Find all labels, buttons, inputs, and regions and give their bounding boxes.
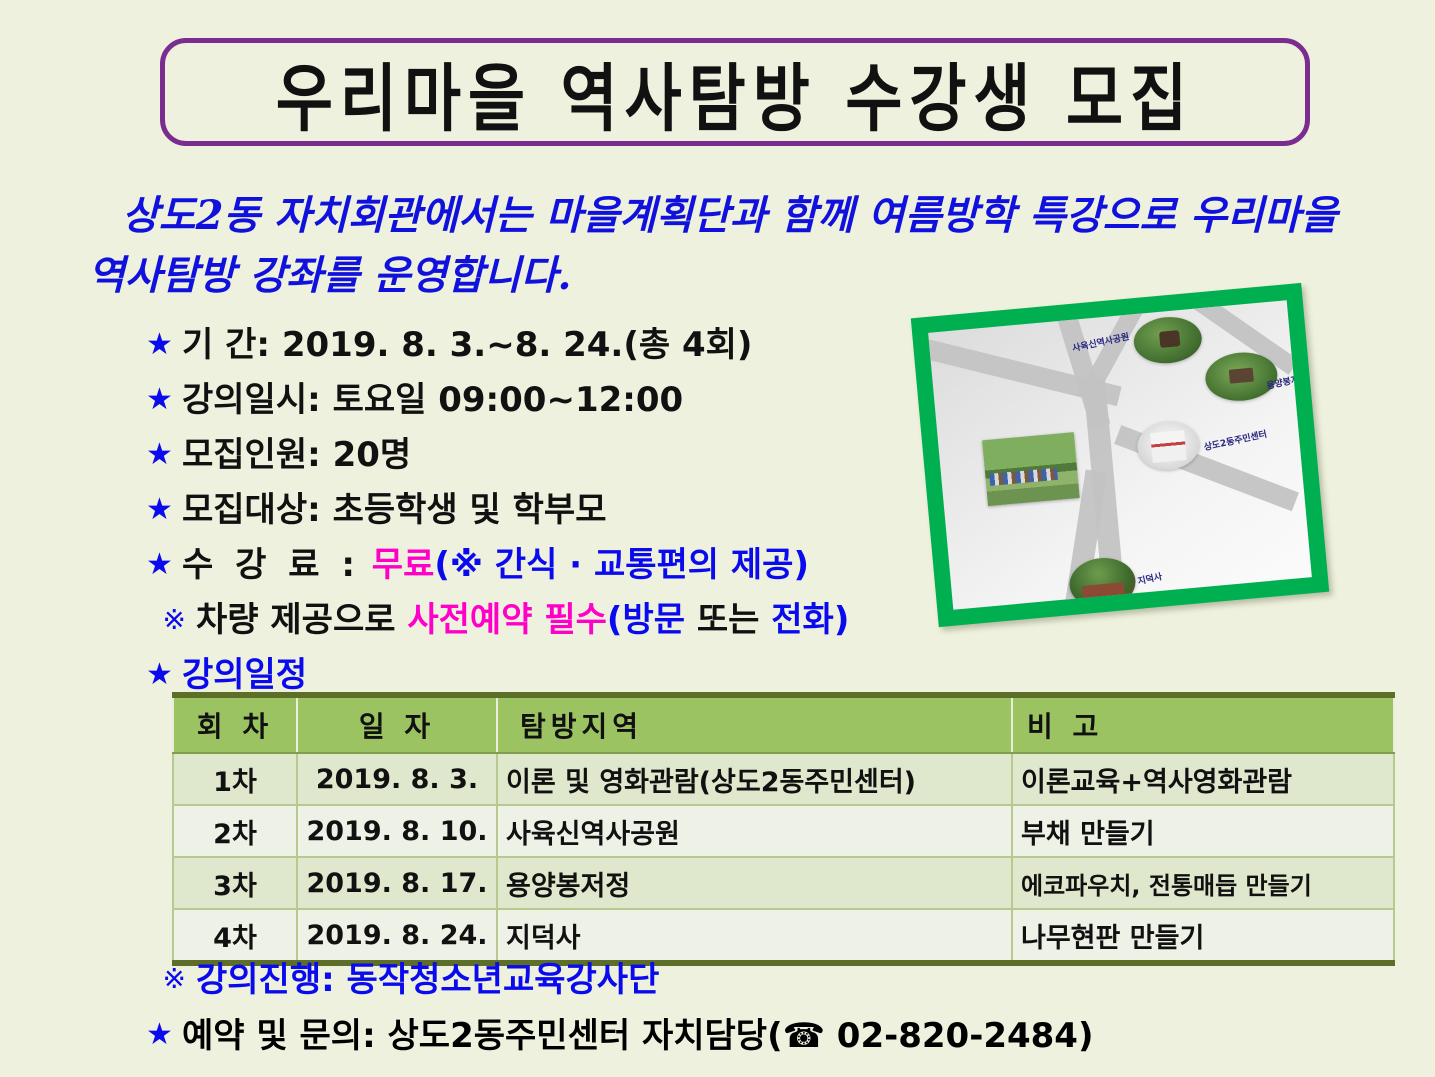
title-box: 우리마을 역사탐방 수강생 모집 (160, 38, 1310, 146)
star-icon: ★ (146, 1012, 182, 1058)
info-bullet-list: ★ 기 간: 2019. 8. 3.~8. 24.(총 4회) ★ 강의일시: … (146, 322, 936, 707)
table-header-area: 탐방지역 (497, 695, 1012, 753)
reference-mark-icon: ※ (146, 597, 196, 643)
intro-paragraph: 상도2동 자치회관에서는 마을계획단과 함께 여름방학 특강으로 우리마을 역사… (88, 186, 1358, 306)
map-marker-sayuksin (1132, 314, 1204, 366)
bullet-datetime: ★ 강의일시: 토요일 09:00~12:00 (146, 377, 936, 432)
reserve-visit: (방문 (607, 597, 685, 643)
bullet-fee-label: 수 강 료 : (182, 542, 360, 588)
bullet-datetime-label: 강의일시: (182, 377, 321, 423)
bullet-reservation-note: ※ 차량 제공으로 사전예약 필수 (방문 또는 전화) (146, 597, 936, 652)
footer-notes: ※ 강의진행: 동작청소년교육강사단 ★ 예약 및 문의: 상도2동주민센터 자… (146, 956, 1346, 1068)
table-header-date: 일 자 (297, 695, 497, 753)
map-canvas: 사육신역사공원 용양봉저정 상도2동주민센터 지덕사 (928, 300, 1312, 609)
area-map-image: 사육신역사공원 용양봉저정 상도2동주민센터 지덕사 (911, 283, 1329, 627)
star-icon: ★ (146, 322, 182, 368)
footer-contact-text: 예약 및 문의: 상도2동주민센터 자치담당(☎ 02-820-2484) (182, 1012, 1093, 1060)
page-title: 우리마을 역사탐방 수강생 모집 (276, 39, 1194, 145)
bullet-fee-note: (※ 간식 · 교통편의 제공) (434, 542, 809, 588)
table-row: 3차 2019. 8. 17. 용양봉저정 에코파우치, 전통매듭 만들기 (173, 857, 1394, 909)
map-frame: 사육신역사공원 용양봉저정 상도2동주민센터 지덕사 (911, 283, 1329, 627)
bullet-capacity-label: 모집인원: (182, 432, 321, 478)
cell-no: 3차 (173, 857, 297, 909)
star-icon: ★ (146, 542, 182, 588)
bullet-fee: ★ 수 강 료 : 무료 (※ 간식 · 교통편의 제공) (146, 542, 936, 597)
table-header-row: 회 차 일 자 탐방지역 비 고 (173, 695, 1394, 753)
cell-date: 2019. 8. 17. (297, 857, 497, 909)
cell-area: 지덕사 (497, 909, 1012, 963)
map-photo-group (982, 432, 1080, 506)
cell-no: 1차 (173, 753, 297, 805)
bullet-period-value: 2019. 8. 3.~8. 24.(총 4회) (282, 322, 753, 368)
reference-mark-icon: ※ (146, 956, 196, 1002)
bullet-datetime-value: 토요일 09:00~12:00 (333, 377, 684, 423)
schedule-table-wrapper: 회 차 일 자 탐방지역 비 고 1차 2019. 8. 3. 이론 및 영화관… (172, 692, 1395, 966)
cell-date: 2019. 8. 3. (297, 753, 497, 805)
footer-instructor-row: ※ 강의진행: 동작청소년교육강사단 (146, 956, 1346, 1012)
table-row: 2차 2019. 8. 10. 사육신역사공원 부채 만들기 (173, 805, 1394, 857)
reserve-phone: 전화) (771, 597, 849, 643)
reserve-highlight: 사전예약 필수 (407, 597, 607, 643)
bullet-capacity: ★ 모집인원: 20명 (146, 432, 936, 487)
bullet-period: ★ 기 간: 2019. 8. 3.~8. 24.(총 4회) (146, 322, 936, 377)
table-header-note: 비 고 (1012, 695, 1394, 753)
cell-note: 나무현판 만들기 (1012, 909, 1394, 963)
footer-contact-row: ★ 예약 및 문의: 상도2동주민센터 자치담당(☎ 02-820-2484) (146, 1012, 1346, 1068)
reserve-middle: 또는 (697, 597, 760, 643)
cell-date: 2019. 8. 24. (297, 909, 497, 963)
table-header-no: 회 차 (173, 695, 297, 753)
star-icon: ★ (146, 432, 182, 478)
poster-root: 우리마을 역사탐방 수강생 모집 상도2동 자치회관에서는 마을계획단과 함께 … (0, 0, 1435, 1077)
schedule-table: 회 차 일 자 탐방지역 비 고 1차 2019. 8. 3. 이론 및 영화관… (172, 692, 1395, 966)
cell-note: 부채 만들기 (1012, 805, 1394, 857)
cell-note: 이론교육+역사영화관람 (1012, 753, 1394, 805)
bullet-audience-value: 초등학생 및 학부모 (333, 487, 607, 533)
map-label-community-center: 상도2동주민센터 (1202, 427, 1268, 453)
reserve-prefix: 차량 제공으로 (196, 597, 396, 643)
bullet-audience-label: 모집대상: (182, 487, 321, 533)
cell-area: 용양봉저정 (497, 857, 1012, 909)
cell-area: 사육신역사공원 (497, 805, 1012, 857)
cell-no: 2차 (173, 805, 297, 857)
table-row: 4차 2019. 8. 24. 지덕사 나무현판 만들기 (173, 909, 1394, 963)
map-label-jideoksa: 지덕사 (1136, 569, 1163, 587)
cell-note: 에코파우치, 전통매듭 만들기 (1012, 857, 1394, 909)
table-row: 1차 2019. 8. 3. 이론 및 영화관람(상도2동주민센터) 이론교육+… (173, 753, 1394, 805)
bullet-fee-free: 무료 (372, 542, 435, 588)
footer-instructor-text: 강의진행: 동작청소년교육강사단 (196, 956, 659, 1004)
cell-area: 이론 및 영화관람(상도2동주민센터) (497, 753, 1012, 805)
star-icon: ★ (146, 377, 182, 423)
star-icon: ★ (146, 487, 182, 533)
bullet-capacity-value: 20명 (333, 432, 412, 478)
bullet-period-label: 기 간: (182, 322, 270, 368)
bullet-audience: ★ 모집대상: 초등학생 및 학부모 (146, 487, 936, 542)
cell-date: 2019. 8. 10. (297, 805, 497, 857)
cell-no: 4차 (173, 909, 297, 963)
